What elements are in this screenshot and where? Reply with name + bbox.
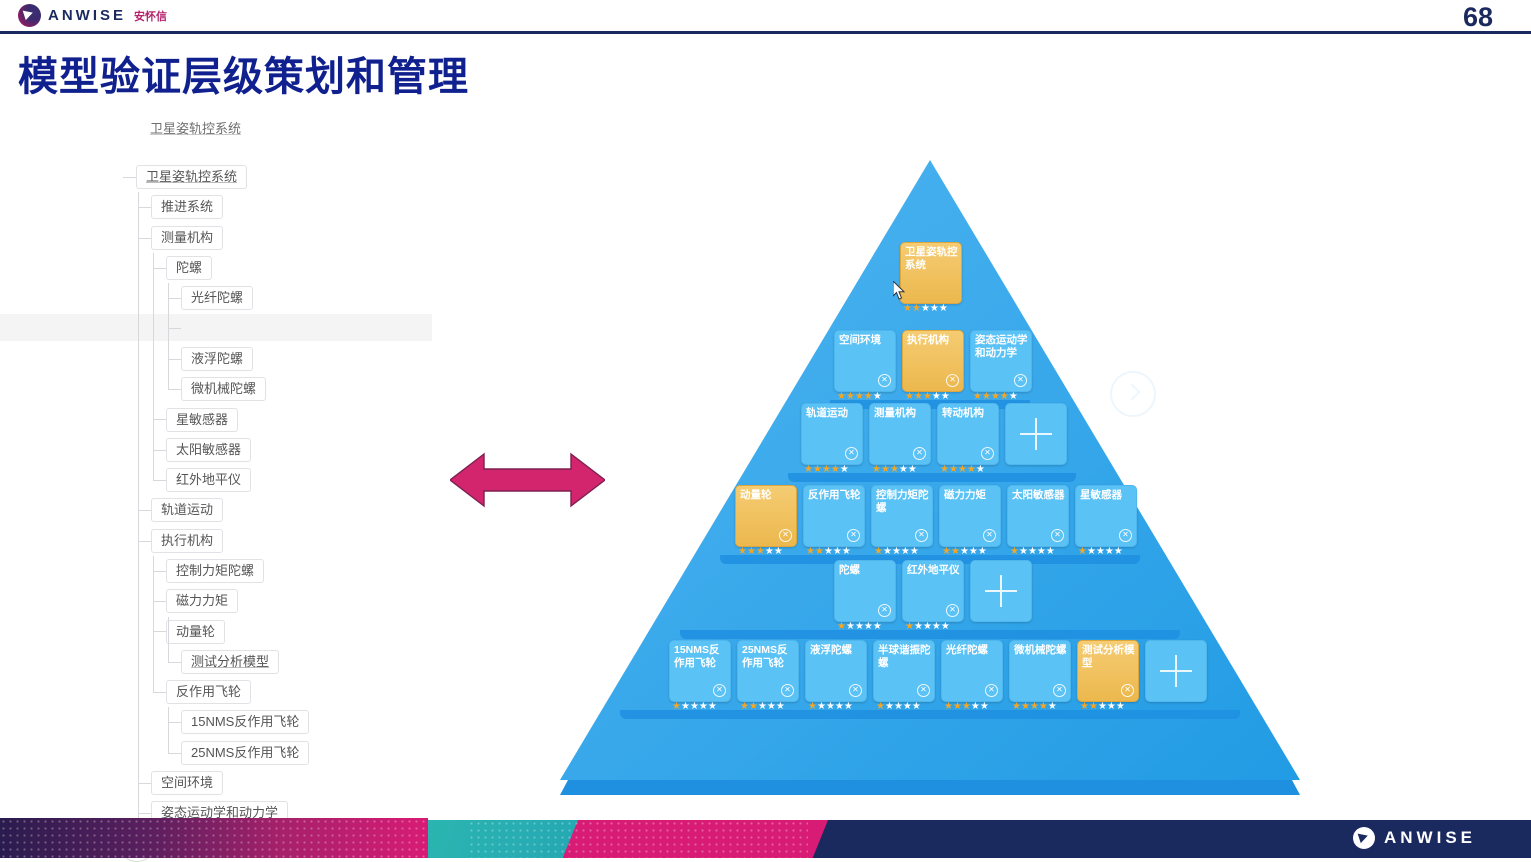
rating-stars[interactable]: ★★★★★ — [804, 465, 849, 475]
tree-item-label[interactable]: 执行机构 — [151, 529, 223, 553]
rating-stars[interactable]: ★★★★★ — [1080, 702, 1125, 712]
star-icon[interactable]: ★ — [873, 622, 882, 632]
tree-item[interactable]: 卫星姿轨控系统 — [136, 162, 309, 192]
star-icon[interactable]: ★ — [840, 465, 849, 475]
star-icon[interactable]: ★ — [1000, 392, 1009, 402]
tree-item-label[interactable]: 陀螺 — [166, 256, 212, 280]
star-icon[interactable]: ★ — [817, 702, 826, 712]
tree-item[interactable]: 光纤陀螺 — [136, 283, 309, 313]
tree-connector-line — [153, 480, 166, 481]
star-icon[interactable]: ★ — [1107, 702, 1116, 712]
rating-stars[interactable]: ★★★★★ — [1010, 547, 1055, 557]
star-icon[interactable]: ★ — [899, 465, 908, 475]
tree-connector-line — [153, 601, 166, 602]
pyramid-card[interactable]: 卫星姿轨控系统★★★★★ — [900, 242, 962, 304]
tree-item[interactable]: 测量机构 — [136, 223, 309, 253]
star-icon[interactable]: ★ — [844, 702, 853, 712]
star-icon[interactable]: ★ — [708, 702, 717, 712]
tree-connector-line — [168, 359, 181, 360]
footer-brand-logo: ANWISE — [1353, 827, 1476, 849]
tree-connector-line — [153, 631, 166, 632]
star-icon[interactable]: ★ — [833, 547, 842, 557]
rating-stars[interactable]: ★★★★★ — [944, 702, 989, 712]
pyramid-card-label: 陀螺 — [839, 564, 892, 577]
pyramid-card-label: 太阳敏感器 — [1012, 489, 1065, 502]
star-icon[interactable]: ★ — [903, 702, 912, 712]
rating-stars[interactable]: ★★★★★ — [903, 304, 948, 314]
rating-stars[interactable]: ★★★★★ — [874, 547, 919, 557]
close-circle-icon[interactable]: ✕ — [1121, 684, 1134, 697]
star-icon[interactable]: ★ — [932, 392, 941, 402]
tree-connector-line — [138, 541, 151, 542]
star-icon[interactable]: ★ — [953, 702, 962, 712]
pyramid-card[interactable]: 光纤陀螺✕★★★★★ — [941, 640, 1003, 702]
pyramid-card-label: 测量机构 — [874, 407, 927, 420]
tree-connector-line — [153, 419, 166, 420]
rating-stars[interactable]: ★★★★★ — [740, 702, 785, 712]
close-circle-icon[interactable]: ✕ — [713, 684, 726, 697]
tree-item-highlight — [0, 314, 432, 341]
pyramid-card[interactable]: 陀螺✕★★★★★ — [834, 560, 896, 622]
tree-item[interactable]: 红外地平仪 — [136, 465, 309, 495]
pyramid-card-label: 微机械陀螺 — [1014, 644, 1067, 657]
close-circle-icon[interactable]: ✕ — [845, 447, 858, 460]
close-circle-icon[interactable]: ✕ — [915, 529, 928, 542]
tree-connector-line — [168, 389, 181, 390]
pyramid-card-label: 光纤陀螺 — [946, 644, 999, 657]
pyramid-level-5: 陀螺✕★★★★★红外地平仪✕★★★★★ — [834, 560, 1032, 622]
star-icon[interactable]: ★ — [846, 622, 855, 632]
pyramid-card[interactable]: 空间环境✕★★★★★ — [834, 330, 896, 392]
star-icon[interactable]: ★ — [976, 465, 985, 475]
star-icon[interactable]: ★ — [864, 392, 873, 402]
star-icon[interactable]: ★ — [892, 547, 901, 557]
tree-connector-line — [138, 813, 151, 814]
star-icon[interactable]: ★ — [969, 547, 978, 557]
tree-connector-line — [153, 556, 154, 692]
star-icon[interactable]: ★ — [1087, 547, 1096, 557]
star-icon[interactable]: ★ — [905, 392, 914, 402]
star-icon[interactable]: ★ — [690, 702, 699, 712]
tree-item-label[interactable]: 测量机构 — [151, 226, 223, 250]
add-card-button[interactable] — [1005, 403, 1067, 465]
star-icon[interactable]: ★ — [681, 702, 690, 712]
star-icon[interactable]: ★ — [912, 702, 921, 712]
tree-item-label[interactable]: 星敏感器 — [166, 408, 238, 432]
tree-item-label[interactable]: 卫星姿轨控系统 — [136, 165, 247, 189]
star-icon[interactable]: ★ — [910, 547, 919, 557]
tree-panel: 卫星姿轨控系统 卫星姿轨控系统推进系统测量机构陀螺光纤陀螺半球谐振陀螺液浮陀螺微… — [0, 100, 432, 858]
star-icon[interactable]: ★ — [978, 547, 987, 557]
star-icon[interactable]: ★ — [740, 702, 749, 712]
tree-connector-line — [138, 783, 151, 784]
tree-item-label[interactable]: 太阳敏感器 — [166, 438, 251, 462]
tree-connector-line — [153, 268, 166, 269]
tree-item-label[interactable]: 光纤陀螺 — [181, 286, 253, 310]
star-icon[interactable]: ★ — [855, 622, 864, 632]
close-circle-icon[interactable]: ✕ — [946, 374, 959, 387]
star-icon[interactable]: ★ — [846, 392, 855, 402]
tree-item[interactable]: 25NMS反作用飞轮 — [136, 738, 309, 768]
star-icon[interactable]: ★ — [1098, 702, 1107, 712]
pyramid-card[interactable]: 液浮陀螺✕★★★★★ — [805, 640, 867, 702]
footer-left-dot-pattern — [0, 818, 428, 858]
star-icon[interactable]: ★ — [1019, 547, 1028, 557]
tree-connector-line — [123, 177, 136, 178]
star-icon[interactable]: ★ — [949, 465, 958, 475]
pyramid-card[interactable]: 15NMS反作用飞轮✕★★★★★ — [669, 640, 731, 702]
rating-stars[interactable]: ★★★★★ — [738, 547, 783, 557]
pyramid-card[interactable]: 星敏感器✕★★★★★ — [1075, 485, 1137, 547]
tree-item[interactable]: 动量轮 — [136, 616, 309, 646]
pyramid-card-label: 空间环境 — [839, 334, 892, 347]
pyramid-card-label: 红外地平仪 — [907, 564, 960, 577]
close-circle-icon[interactable]: ✕ — [983, 529, 996, 542]
tree-item[interactable]: 半球谐振陀螺 — [136, 313, 309, 343]
close-circle-icon[interactable]: ✕ — [981, 447, 994, 460]
star-icon[interactable]: ★ — [960, 547, 969, 557]
star-icon[interactable]: ★ — [930, 304, 939, 314]
pyramid-card[interactable]: 动量轮✕★★★★★ — [735, 485, 797, 547]
rating-stars[interactable]: ★★★★★ — [806, 547, 851, 557]
star-icon[interactable]: ★ — [855, 392, 864, 402]
close-circle-icon[interactable]: ✕ — [779, 529, 792, 542]
app-header: ANWISE 安怀信 68 — [0, 0, 1531, 32]
pyramid-card[interactable]: 太阳敏感器✕★★★★★ — [1007, 485, 1069, 547]
pyramid-card[interactable]: 25NMS反作用飞轮✕★★★★★ — [737, 640, 799, 702]
tree-item-label[interactable]: 15NMS反作用飞轮 — [181, 710, 309, 734]
star-icon[interactable]: ★ — [923, 622, 932, 632]
brand-logo: ANWISE 安怀信 — [18, 4, 167, 27]
pyramid-card[interactable]: 反作用飞轮✕★★★★★ — [803, 485, 865, 547]
star-icon[interactable]: ★ — [774, 547, 783, 557]
tree-item[interactable]: 执行机构 — [136, 526, 309, 556]
star-icon[interactable]: ★ — [1021, 702, 1030, 712]
star-icon[interactable]: ★ — [962, 702, 971, 712]
star-icon[interactable]: ★ — [822, 465, 831, 475]
star-icon[interactable]: ★ — [903, 304, 912, 314]
star-icon[interactable]: ★ — [940, 465, 949, 475]
star-icon[interactable]: ★ — [758, 702, 767, 712]
pyramid-diagram: 卫星姿轨控系统★★★★★空间环境✕★★★★★执行机构✕★★★★★姿态运动学和动力… — [560, 160, 1300, 800]
tree-connector-line — [138, 207, 151, 208]
tree-item[interactable]: 太阳敏感器 — [136, 435, 309, 465]
page-title: 模型验证层级策划和管理 — [18, 44, 469, 102]
star-icon[interactable]: ★ — [872, 465, 881, 475]
pyramid-card-label: 液浮陀螺 — [810, 644, 863, 657]
pyramid-card[interactable]: 测量机构✕★★★★★ — [869, 403, 931, 465]
page-number: 68 — [1463, 2, 1493, 33]
pyramid-card-label: 半球谐振陀螺 — [878, 644, 931, 669]
add-card-button[interactable] — [970, 560, 1032, 622]
star-icon[interactable]: ★ — [1048, 702, 1057, 712]
star-icon[interactable]: ★ — [1030, 702, 1039, 712]
pyramid-card[interactable]: 测试分析模型✕★★★★★ — [1077, 640, 1139, 702]
brand-logo-cn-text: 安怀信 — [134, 8, 167, 24]
tree-view[interactable]: 卫星姿轨控系统推进系统测量机构陀螺光纤陀螺半球谐振陀螺液浮陀螺微机械陀螺星敏感器… — [136, 162, 309, 858]
tree-item-label[interactable]: 红外地平仪 — [166, 468, 251, 492]
pyramid-card[interactable]: 轨道运动✕★★★★★ — [801, 403, 863, 465]
star-icon[interactable]: ★ — [1037, 547, 1046, 557]
star-icon[interactable]: ★ — [951, 547, 960, 557]
tree-connector-line — [168, 662, 181, 663]
rating-stars[interactable]: ★★★★★ — [872, 465, 917, 475]
star-icon[interactable]: ★ — [991, 392, 1000, 402]
star-icon[interactable]: ★ — [912, 304, 921, 314]
footer-left-banner — [0, 818, 428, 858]
star-icon[interactable]: ★ — [881, 465, 890, 475]
close-circle-icon[interactable]: ✕ — [1051, 529, 1064, 542]
rating-stars[interactable]: ★★★★★ — [905, 392, 950, 402]
tree-connector-line — [168, 707, 169, 752]
star-icon[interactable]: ★ — [932, 622, 941, 632]
close-circle-icon[interactable]: ✕ — [781, 684, 794, 697]
star-icon[interactable]: ★ — [1046, 547, 1055, 557]
star-icon[interactable]: ★ — [1009, 392, 1018, 402]
tree-item[interactable]: 推进系统 — [136, 192, 309, 222]
tree-item-label[interactable]: 轨道运动 — [151, 498, 223, 522]
star-icon[interactable]: ★ — [1080, 702, 1089, 712]
star-icon[interactable]: ★ — [941, 392, 950, 402]
tree-connector-line — [138, 510, 151, 511]
pyramid-card[interactable]: 磁力力矩✕★★★★★ — [939, 485, 1001, 547]
pyramid-level-1: 卫星姿轨控系统★★★★★ — [900, 242, 962, 304]
rating-stars[interactable]: ★★★★★ — [1012, 702, 1057, 712]
close-circle-icon[interactable]: ✕ — [917, 684, 930, 697]
star-icon[interactable]: ★ — [914, 622, 923, 632]
tree-item-label[interactable]: 控制力矩陀螺 — [166, 559, 264, 583]
star-icon[interactable]: ★ — [1096, 547, 1105, 557]
rating-stars[interactable]: ★★★★★ — [808, 702, 853, 712]
star-icon[interactable]: ★ — [973, 392, 982, 402]
star-icon[interactable]: ★ — [876, 702, 885, 712]
close-circle-icon[interactable]: ✕ — [946, 604, 959, 617]
close-circle-icon[interactable]: ✕ — [847, 529, 860, 542]
star-icon[interactable]: ★ — [921, 304, 930, 314]
tree-item[interactable]: 液浮陀螺 — [136, 344, 309, 374]
tree-item[interactable]: 反作用飞轮 — [136, 677, 309, 707]
close-circle-icon[interactable]: ✕ — [1053, 684, 1066, 697]
tree-connector-line — [168, 298, 181, 299]
star-icon[interactable]: ★ — [905, 622, 914, 632]
pyramid-card[interactable]: 红外地平仪✕★★★★★ — [902, 560, 964, 622]
header-divider — [0, 31, 1531, 34]
pyramid-card[interactable]: 控制力矩陀螺✕★★★★★ — [871, 485, 933, 547]
star-icon[interactable]: ★ — [980, 702, 989, 712]
star-icon[interactable]: ★ — [824, 547, 833, 557]
star-icon[interactable]: ★ — [1010, 547, 1019, 557]
pyramid-card-label: 25NMS反作用飞轮 — [742, 644, 795, 669]
rating-stars[interactable]: ★★★★★ — [837, 622, 882, 632]
star-icon[interactable]: ★ — [958, 465, 967, 475]
pyramid-card[interactable]: 姿态运动学和动力学✕★★★★★ — [970, 330, 1032, 392]
pyramid-card-label: 执行机构 — [907, 334, 960, 347]
pyramid-card-label: 卫星姿轨控系统 — [905, 246, 958, 271]
tree-connector-line — [168, 617, 169, 662]
pyramid-level-2: 空间环境✕★★★★★执行机构✕★★★★★姿态运动学和动力学✕★★★★★ — [834, 330, 1032, 392]
add-card-button[interactable] — [1145, 640, 1207, 702]
pyramid-card-label: 磁力力矩 — [944, 489, 997, 502]
star-icon[interactable]: ★ — [826, 702, 835, 712]
rating-stars[interactable]: ★★★★★ — [1078, 547, 1123, 557]
pyramid-card-label: 控制力矩陀螺 — [876, 489, 929, 514]
star-icon[interactable]: ★ — [756, 547, 765, 557]
star-icon[interactable]: ★ — [699, 702, 708, 712]
pyramid-card-label: 姿态运动学和动力学 — [975, 334, 1028, 359]
pyramid-card[interactable]: 半球谐振陀螺✕★★★★★ — [873, 640, 935, 702]
star-icon[interactable]: ★ — [864, 622, 873, 632]
star-icon[interactable]: ★ — [923, 392, 932, 402]
star-icon[interactable]: ★ — [672, 702, 681, 712]
star-icon[interactable]: ★ — [813, 465, 822, 475]
star-icon[interactable]: ★ — [944, 702, 953, 712]
star-icon[interactable]: ★ — [837, 622, 846, 632]
star-icon[interactable]: ★ — [901, 547, 910, 557]
rating-stars[interactable]: ★★★★★ — [837, 392, 882, 402]
close-circle-icon[interactable]: ✕ — [913, 447, 926, 460]
anwise-bird-logo-icon — [18, 4, 41, 27]
tree-connector-line — [168, 328, 181, 329]
star-icon[interactable]: ★ — [883, 547, 892, 557]
star-icon[interactable]: ★ — [1078, 547, 1087, 557]
tree-connector-line — [168, 722, 181, 723]
tree-item-label[interactable]: 动量轮 — [166, 620, 225, 644]
star-icon[interactable]: ★ — [776, 702, 785, 712]
pyramid-card[interactable]: 执行机构✕★★★★★ — [902, 330, 964, 392]
footer-right-banner: ANWISE — [428, 820, 1531, 858]
pyramid-level-6: 15NMS反作用飞轮✕★★★★★25NMS反作用飞轮✕★★★★★液浮陀螺✕★★★… — [669, 640, 1207, 702]
star-icon[interactable]: ★ — [1114, 547, 1123, 557]
tree-item-label[interactable]: 磁力力矩 — [166, 589, 238, 613]
star-icon[interactable]: ★ — [1012, 702, 1021, 712]
star-icon[interactable]: ★ — [939, 304, 948, 314]
tree-item-label[interactable]: 微机械陀螺 — [181, 377, 266, 401]
tree-connector-line — [153, 253, 154, 480]
rating-stars[interactable]: ★★★★★ — [942, 547, 987, 557]
star-icon[interactable]: ★ — [747, 547, 756, 557]
star-icon[interactable]: ★ — [804, 465, 813, 475]
pyramid-card-label: 动量轮 — [740, 489, 793, 502]
tree-item[interactable]: 磁力力矩 — [136, 586, 309, 616]
star-icon[interactable]: ★ — [1105, 547, 1114, 557]
star-icon[interactable]: ★ — [765, 547, 774, 557]
pyramid-card-label: 星敏感器 — [1080, 489, 1133, 502]
rating-stars[interactable]: ★★★★★ — [876, 702, 921, 712]
footer-right-dot-pattern — [468, 820, 808, 858]
rating-stars[interactable]: ★★★★★ — [672, 702, 717, 712]
rating-stars[interactable]: ★★★★★ — [905, 622, 950, 632]
close-circle-icon[interactable]: ✕ — [849, 684, 862, 697]
pyramid-card[interactable]: 转动机构✕★★★★★ — [937, 403, 999, 465]
next-page-button[interactable] — [1110, 371, 1156, 417]
pyramid-card-label: 转动机构 — [942, 407, 995, 420]
tree-item[interactable]: 陀螺 — [136, 253, 309, 283]
tree-item-label[interactable]: 推进系统 — [151, 195, 223, 219]
star-icon[interactable]: ★ — [890, 465, 899, 475]
star-icon[interactable]: ★ — [873, 392, 882, 402]
tree-connector-line — [168, 283, 169, 389]
tree-item[interactable]: 轨道运动 — [136, 495, 309, 525]
star-icon[interactable]: ★ — [908, 465, 917, 475]
star-icon[interactable]: ★ — [806, 547, 815, 557]
star-icon[interactable]: ★ — [767, 702, 776, 712]
tree-item[interactable]: 控制力矩陀螺 — [136, 556, 309, 586]
tree-item[interactable]: 15NMS反作用飞轮 — [136, 707, 309, 737]
tree-item-label[interactable]: 25NMS反作用飞轮 — [181, 741, 309, 765]
close-circle-icon[interactable]: ✕ — [1014, 374, 1027, 387]
tree-connector-line — [138, 192, 139, 843]
footer-brand-text: ANWISE — [1384, 828, 1476, 848]
rating-stars[interactable]: ★★★★★ — [973, 392, 1018, 402]
star-icon[interactable]: ★ — [831, 465, 840, 475]
pyramid-card[interactable]: 微机械陀螺✕★★★★★ — [1009, 640, 1071, 702]
pyramid-card-label: 15NMS反作用飞轮 — [674, 644, 727, 669]
tree-connector-line — [153, 450, 166, 451]
close-circle-icon[interactable]: ✕ — [1119, 529, 1132, 542]
star-icon[interactable]: ★ — [749, 702, 758, 712]
tree-item[interactable]: 空间环境 — [136, 768, 309, 798]
anwise-bird-logo-icon — [1353, 827, 1375, 849]
star-icon[interactable]: ★ — [971, 702, 980, 712]
star-icon[interactable]: ★ — [942, 547, 951, 557]
pyramid-card-label: 反作用飞轮 — [808, 489, 861, 502]
close-circle-icon[interactable]: ✕ — [878, 374, 891, 387]
star-icon[interactable]: ★ — [914, 392, 923, 402]
close-circle-icon[interactable]: ✕ — [985, 684, 998, 697]
mouse-cursor — [893, 281, 906, 300]
star-icon[interactable]: ★ — [1116, 702, 1125, 712]
tree-item-label[interactable]: 液浮陀螺 — [181, 347, 253, 371]
star-icon[interactable]: ★ — [1089, 702, 1098, 712]
star-icon[interactable]: ★ — [815, 547, 824, 557]
star-icon[interactable]: ★ — [967, 465, 976, 475]
star-icon[interactable]: ★ — [941, 622, 950, 632]
tree-item[interactable]: 测试分析模型 — [136, 647, 309, 677]
rating-stars[interactable]: ★★★★★ — [940, 465, 985, 475]
star-icon[interactable]: ★ — [1039, 702, 1048, 712]
pyramid-card-label: 测试分析模型 — [1082, 644, 1135, 669]
tree-item-label[interactable]: 反作用飞轮 — [166, 680, 251, 704]
star-icon[interactable]: ★ — [1028, 547, 1037, 557]
star-icon[interactable]: ★ — [808, 702, 817, 712]
tree-item-label[interactable]: 空间环境 — [151, 771, 223, 795]
tree-item[interactable]: 星敏感器 — [136, 404, 309, 434]
tree-panel-heading: 卫星姿轨控系统 — [150, 118, 241, 137]
star-icon[interactable]: ★ — [885, 702, 894, 712]
close-circle-icon[interactable]: ✕ — [878, 604, 891, 617]
tree-connector-line — [153, 692, 166, 693]
tree-item-label[interactable]: 测试分析模型 — [181, 650, 279, 674]
star-icon[interactable]: ★ — [835, 702, 844, 712]
tree-item[interactable]: 微机械陀螺 — [136, 374, 309, 404]
star-icon[interactable]: ★ — [982, 392, 991, 402]
pyramid-card-label: 轨道运动 — [806, 407, 859, 420]
brand-logo-text: ANWISE — [48, 7, 126, 24]
star-icon[interactable]: ★ — [894, 702, 903, 712]
tree-connector-line — [153, 571, 166, 572]
tree-connector-line — [138, 238, 151, 239]
pyramid-level-3: 轨道运动✕★★★★★测量机构✕★★★★★转动机构✕★★★★★ — [801, 403, 1067, 465]
star-icon[interactable]: ★ — [874, 547, 883, 557]
star-icon[interactable]: ★ — [842, 547, 851, 557]
star-icon[interactable]: ★ — [738, 547, 747, 557]
tree-connector-line — [168, 753, 181, 754]
pyramid-level-4: 动量轮✕★★★★★反作用飞轮✕★★★★★控制力矩陀螺✕★★★★★磁力力矩✕★★★… — [735, 485, 1137, 547]
star-icon[interactable]: ★ — [837, 392, 846, 402]
